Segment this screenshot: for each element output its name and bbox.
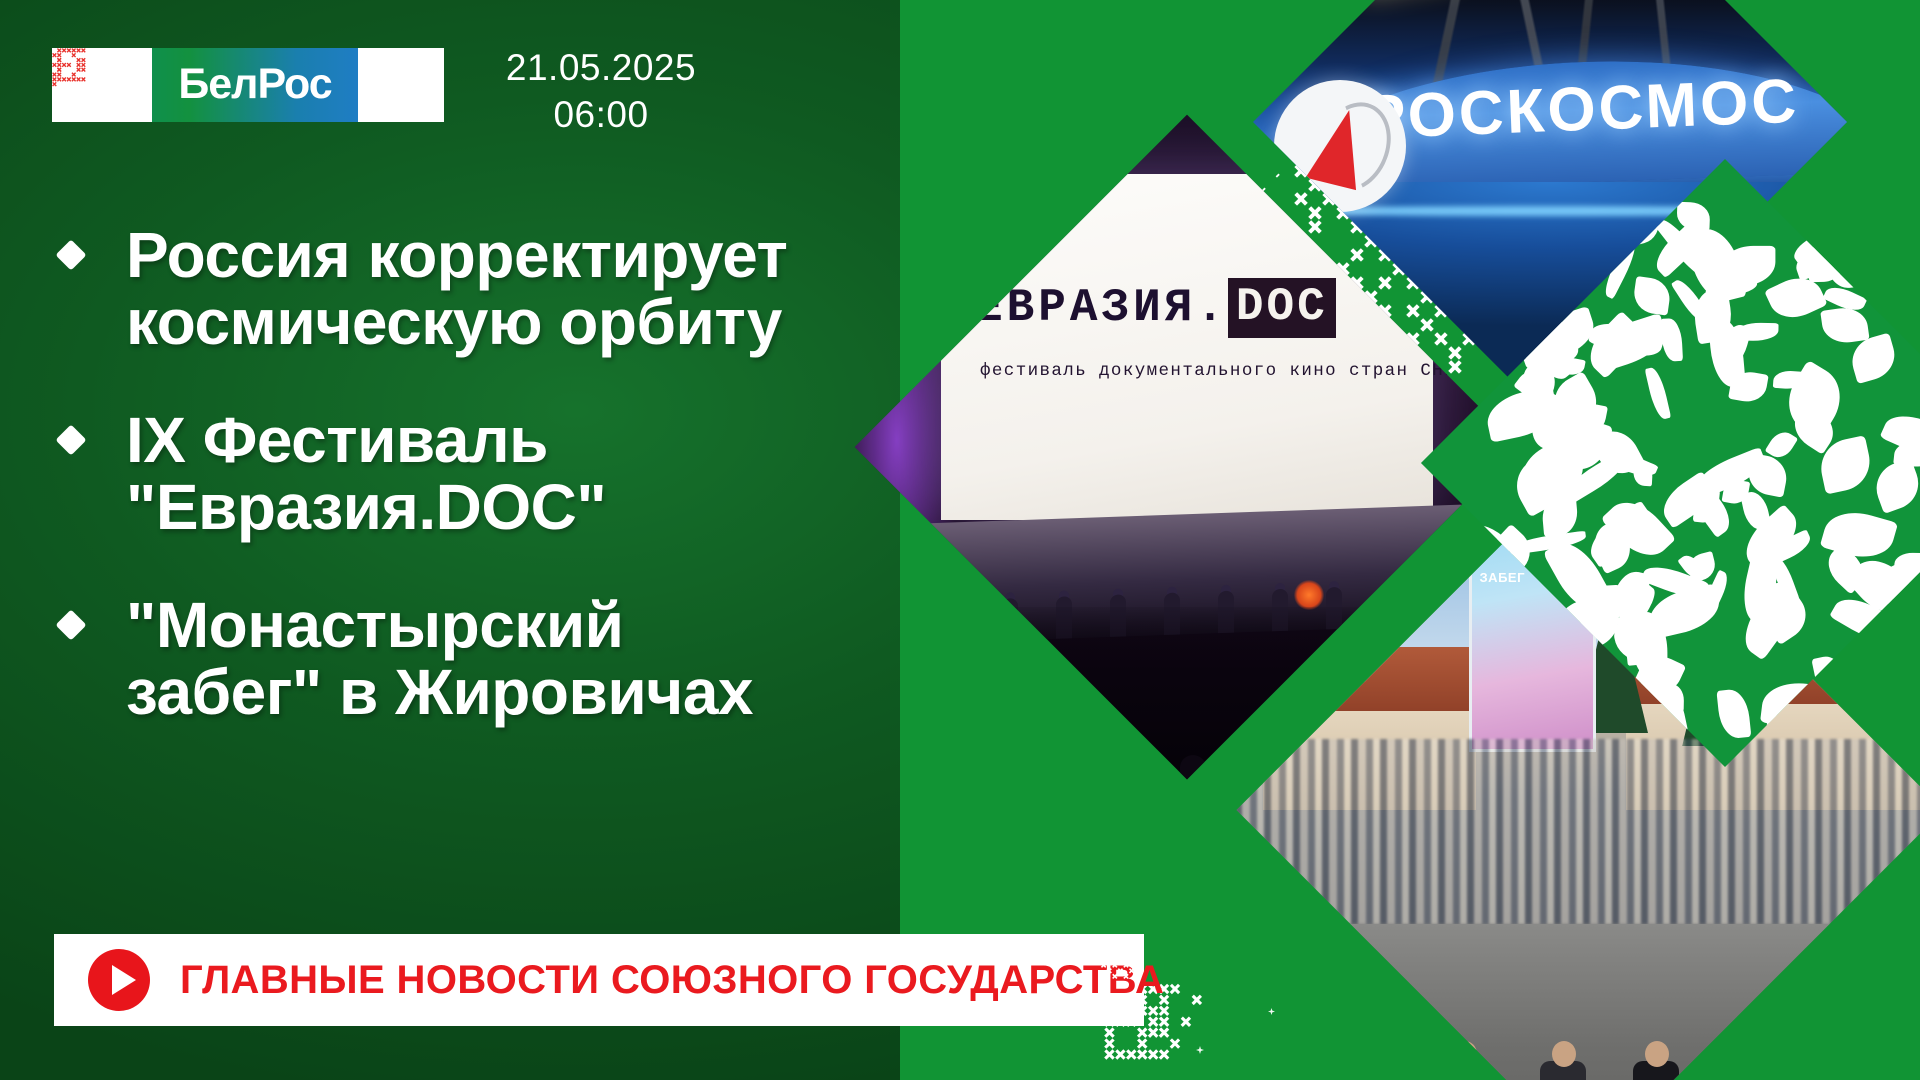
banner-label: ГЛАВНЫЕ НОВОСТИ СОЮЗНОГО ГОСУДАРСТВА bbox=[180, 958, 1164, 1003]
headline-item[interactable]: Россия корректирует космическую орбиту bbox=[52, 222, 1082, 355]
banner-cross-stitch-icon bbox=[1101, 940, 1140, 979]
diamond-bullet-icon bbox=[55, 425, 86, 456]
bottom-banner[interactable]: ГЛАВНЫЕ НОВОСТИ СОЮЗНОГО ГОСУДАРСТВА bbox=[54, 934, 1144, 1026]
logo-cross-stitch-icon bbox=[52, 48, 152, 122]
headline-line: IX Фестиваль bbox=[126, 407, 606, 474]
logo-flower-icon bbox=[358, 48, 444, 122]
headline-item[interactable]: "Монастырский забег" в Жировичах bbox=[52, 592, 1082, 725]
headline-line: Россия корректирует bbox=[126, 222, 787, 289]
eurasia-doc-title-accent: DOC bbox=[1228, 278, 1336, 338]
diamond-bullet-icon bbox=[55, 610, 86, 641]
news-digest-card: РОСКОСМОС ЕВРАЗИЯ. DOC фестиваль докумен… bbox=[0, 0, 1920, 1080]
time-text: 06:00 bbox=[470, 91, 732, 138]
belros-logo[interactable]: БелРос bbox=[52, 48, 444, 122]
diamond-bullet-icon bbox=[55, 239, 86, 270]
headline-line: "Евразия.DOC" bbox=[126, 474, 606, 541]
date-text: 21.05.2025 bbox=[470, 44, 732, 91]
headline-line: забег" в Жировичах bbox=[126, 659, 753, 726]
headline-line: космическую орбиту bbox=[126, 289, 787, 356]
headline-item[interactable]: IX Фестиваль "Евразия.DOC" bbox=[52, 407, 1082, 540]
play-button-icon[interactable] bbox=[88, 949, 150, 1011]
logo-wordmark: БелРос bbox=[152, 48, 358, 122]
run-banner-text: ЗАБЕГ bbox=[1480, 570, 1525, 585]
logo-text: БелРос bbox=[178, 63, 331, 106]
datetime-block: 21.05.2025 06:00 bbox=[470, 44, 732, 139]
headline-list: Россия корректирует космическую орбиту I… bbox=[52, 222, 1082, 777]
headline-line: "Монастырский bbox=[126, 592, 753, 659]
